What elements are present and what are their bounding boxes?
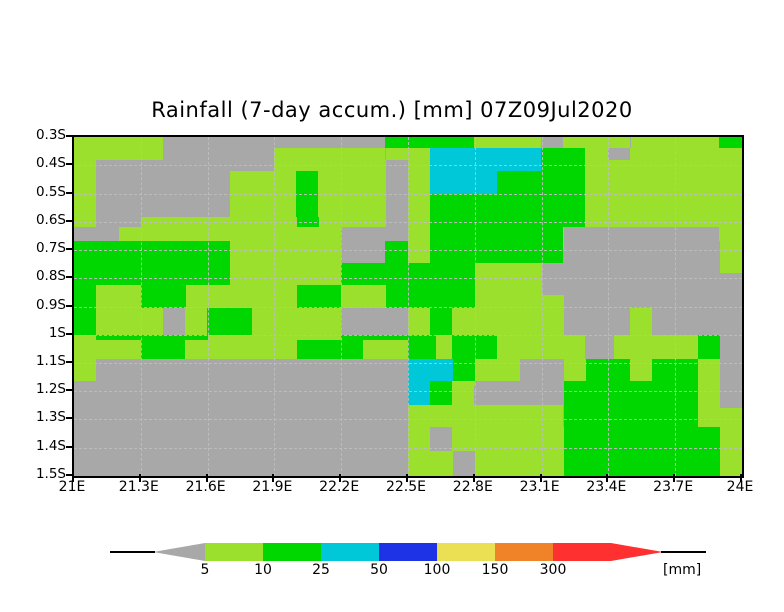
heatmap-cell xyxy=(408,405,563,427)
y-tick-label: 0.6S xyxy=(36,212,66,228)
heatmap-cell xyxy=(408,451,453,476)
heatmap-cell xyxy=(586,250,610,274)
colorbar-label: 25 xyxy=(291,562,351,578)
colorbar-segment xyxy=(321,543,379,561)
heatmap-cell xyxy=(452,308,497,335)
heatmap-cell xyxy=(675,295,699,319)
heatmap-cell xyxy=(74,335,96,359)
heatmap-cell xyxy=(119,205,143,229)
colorbar-label: 5 xyxy=(175,562,235,578)
colorbar-whisker-left xyxy=(110,551,155,553)
heatmap-cell xyxy=(74,137,96,148)
colorbar-unit-label: [mm] xyxy=(663,562,701,578)
y-tick-label: 0.8S xyxy=(36,268,66,284)
heatmap-cell xyxy=(564,227,588,251)
heatmap-cell xyxy=(341,285,386,308)
heatmap-cell xyxy=(96,263,230,285)
heatmap-cell xyxy=(563,335,585,359)
y-tick-label: 0.7S xyxy=(36,240,66,256)
heatmap-cell xyxy=(497,171,563,194)
heatmap-cell xyxy=(318,194,385,217)
heatmap-cell xyxy=(74,148,96,227)
heatmap-cell xyxy=(720,386,742,410)
colorbar-label: 300 xyxy=(523,562,583,578)
heatmap-cell xyxy=(74,263,96,308)
heatmap-cell xyxy=(564,250,588,274)
heatmap-cell xyxy=(564,381,698,405)
heatmap-cell xyxy=(318,171,385,194)
heatmap-cell xyxy=(430,194,563,263)
heatmap-cell xyxy=(408,381,430,405)
heatmap-cell xyxy=(563,148,585,227)
heatmap-cell xyxy=(698,405,720,427)
heatmap-cell xyxy=(719,137,742,148)
heatmap-cell xyxy=(74,427,408,476)
heatmap-cell xyxy=(230,263,319,285)
colorbar-label: 10 xyxy=(233,562,293,578)
y-tick-label: 0.4S xyxy=(36,155,66,171)
heatmap-cell xyxy=(74,359,96,381)
heatmap-cell xyxy=(252,308,274,335)
heatmap-cell xyxy=(319,250,343,274)
heatmap-cell xyxy=(586,273,610,297)
heatmap-cell xyxy=(630,148,742,171)
heatmap-cell xyxy=(341,227,365,251)
heatmap-cell xyxy=(163,160,187,184)
heatmap-cell xyxy=(698,359,720,381)
heatmap-cell xyxy=(653,273,677,297)
heatmap-cell xyxy=(653,227,677,251)
heatmap-cells xyxy=(74,137,742,476)
heatmap-cell xyxy=(720,451,742,476)
colorbar-label: 50 xyxy=(349,562,409,578)
heatmap-cell xyxy=(675,250,699,274)
heatmap-cell xyxy=(719,217,742,241)
heatmap-cell xyxy=(230,241,297,263)
heatmap-cell xyxy=(386,160,410,184)
y-tick xyxy=(66,361,74,363)
y-tick-label: 0.9S xyxy=(36,297,66,313)
heatmap-cell xyxy=(74,241,96,263)
heatmap-cell xyxy=(208,137,232,161)
heatmap-cell xyxy=(207,308,252,335)
heatmap-cell xyxy=(341,308,408,335)
heatmap-cell xyxy=(631,227,655,251)
heatmap-cell xyxy=(96,241,230,263)
colorbar-segment xyxy=(553,543,611,561)
heatmap-cell xyxy=(697,250,721,274)
y-tick-label: 1S xyxy=(49,325,66,341)
heatmap-cell xyxy=(163,308,185,335)
heatmap-cell xyxy=(608,227,632,251)
y-tick-label: 1.3S xyxy=(36,409,66,425)
heatmap-cell xyxy=(452,335,497,359)
heatmap-cell xyxy=(96,160,120,184)
colorbar-label: 100 xyxy=(407,562,467,578)
heatmap-cell xyxy=(386,205,410,229)
heatmap-cell xyxy=(96,359,408,381)
heatmap-cell xyxy=(163,137,187,161)
heatmap-cell xyxy=(586,318,610,342)
plot-area xyxy=(72,135,744,478)
heatmap-cell xyxy=(720,427,742,451)
x-tick-label: 24E xyxy=(700,479,780,495)
heatmap-cell xyxy=(96,137,163,148)
heatmap-cell xyxy=(631,273,655,297)
heatmap-cell xyxy=(119,182,143,206)
chart-page: Rainfall (7-day accum.) [mm] 07Z09Jul202… xyxy=(0,0,784,612)
heatmap-cell xyxy=(652,335,698,359)
heatmap-cell xyxy=(119,160,143,184)
heatmap-cell xyxy=(319,227,343,251)
heatmap-cell xyxy=(452,381,474,405)
heatmap-cell xyxy=(675,273,699,297)
heatmap-cell xyxy=(296,148,385,171)
heatmap-cell xyxy=(519,295,543,319)
heatmap-cell xyxy=(96,182,120,206)
colorbar-label: 150 xyxy=(465,562,525,578)
y-tick xyxy=(66,446,74,448)
heatmap-cell xyxy=(586,295,610,319)
heatmap-cell xyxy=(720,250,742,274)
heatmap-cell xyxy=(96,285,141,308)
heatmap-cell xyxy=(296,194,318,217)
heatmap-cell xyxy=(208,182,232,206)
y-tick xyxy=(66,276,74,278)
y-tick-label: 1.2S xyxy=(36,381,66,397)
heatmap-cell xyxy=(386,285,475,308)
heatmap-cell xyxy=(453,451,475,476)
heatmap-cell xyxy=(297,227,321,251)
heatmap-cell xyxy=(430,171,497,194)
heatmap-cell xyxy=(608,273,632,297)
heatmap-cell xyxy=(96,308,163,335)
heatmap-cell xyxy=(408,148,430,217)
heatmap-cell xyxy=(497,335,563,359)
heatmap-cell xyxy=(185,182,209,206)
heatmap-cell xyxy=(475,263,542,285)
heatmap-cell xyxy=(274,148,296,171)
heatmap-cell xyxy=(96,205,120,229)
heatmap-cell xyxy=(185,160,209,184)
heatmap-cell xyxy=(542,295,566,319)
heatmap-cell xyxy=(563,137,630,148)
heatmap-cell xyxy=(430,381,452,405)
heatmap-cell xyxy=(185,308,207,335)
heatmap-cell xyxy=(653,295,677,319)
y-tick-label: 0.3S xyxy=(36,127,66,143)
heatmap-cell xyxy=(630,313,652,335)
colorbar-segment xyxy=(495,543,553,561)
heatmap-cell xyxy=(652,137,719,148)
heatmap-cell xyxy=(630,335,652,359)
heatmap-cell xyxy=(74,381,408,427)
heatmap-cell xyxy=(519,363,543,387)
heatmap-cell xyxy=(230,137,254,161)
page-title: Rainfall (7-day accum.) [mm] 07Z09Jul202… xyxy=(0,98,784,122)
colorbar-segment xyxy=(379,543,437,561)
heatmap-cell xyxy=(274,308,296,335)
y-tick-label: 0.5S xyxy=(36,184,66,200)
heatmap-cell xyxy=(230,194,296,217)
heatmap-cell xyxy=(697,273,721,297)
heatmap-cell xyxy=(296,171,318,194)
y-tick xyxy=(66,192,74,194)
heatmap-cell xyxy=(720,340,742,364)
heatmap-cell xyxy=(564,451,720,476)
heatmap-cell xyxy=(563,217,585,227)
heatmap-cell xyxy=(631,250,655,274)
heatmap-cell xyxy=(74,308,96,335)
heatmap-cell xyxy=(630,359,652,381)
heatmap-cell xyxy=(698,381,720,405)
heatmap-cell xyxy=(564,427,720,451)
heatmap-cell xyxy=(586,227,610,251)
heatmap-cell xyxy=(297,285,341,308)
heatmap-cell xyxy=(564,359,586,381)
heatmap-cell xyxy=(652,359,698,381)
heatmap-cell xyxy=(186,285,297,308)
heatmap-cell xyxy=(496,137,541,148)
y-tick xyxy=(66,305,74,307)
heatmap-cell xyxy=(720,318,742,342)
heatmap-cell xyxy=(542,273,566,297)
heatmap-cell xyxy=(720,273,742,297)
heatmap-cell xyxy=(608,250,632,274)
heatmap-cell xyxy=(720,295,742,319)
heatmap-cell xyxy=(185,137,209,161)
heatmap-cell xyxy=(430,427,452,451)
heatmap-cell xyxy=(475,451,520,476)
heatmap-cell xyxy=(408,427,430,451)
heatmap-cell xyxy=(564,405,698,427)
heatmap-cell xyxy=(363,227,387,251)
y-tick xyxy=(66,220,74,222)
heatmap-cell xyxy=(698,335,720,359)
heatmap-cell xyxy=(163,182,187,206)
y-tick xyxy=(66,248,74,250)
colorbar-arrow-left xyxy=(153,543,205,561)
colorbar-segment xyxy=(437,543,495,561)
heatmap-cell xyxy=(141,182,165,206)
heatmap-cell xyxy=(653,250,677,274)
heatmap-cell xyxy=(230,217,297,241)
heatmap-cell xyxy=(453,359,475,381)
heatmap-cell xyxy=(452,263,474,285)
y-tick xyxy=(66,417,74,419)
y-tick xyxy=(66,389,74,391)
heatmap-cell xyxy=(141,160,165,184)
colorbar-arrow-right xyxy=(611,543,663,561)
heatmap-cell xyxy=(385,137,474,148)
heatmap-cell xyxy=(230,171,296,194)
y-tick-label: 1.1S xyxy=(36,353,66,369)
colorbar-whisker-right xyxy=(661,551,706,553)
y-tick xyxy=(66,163,74,165)
heatmap-cell xyxy=(386,182,410,206)
heatmap-cell xyxy=(408,217,430,263)
heatmap-cell xyxy=(497,308,519,335)
heatmap-cell xyxy=(208,160,232,184)
heatmap-cell xyxy=(564,273,588,297)
heatmap-cell xyxy=(141,285,186,308)
heatmap-cell xyxy=(542,363,566,387)
y-tick xyxy=(66,135,74,137)
heatmap-cell xyxy=(675,227,699,251)
heatmap-cell xyxy=(564,295,588,319)
colorbar-segment xyxy=(205,543,263,561)
y-tick xyxy=(66,333,74,335)
heatmap-cell xyxy=(408,359,453,381)
heatmap-cell xyxy=(408,308,430,335)
heatmap-cell xyxy=(697,295,721,319)
heatmap-cell xyxy=(475,285,520,308)
heatmap-cell xyxy=(475,359,520,381)
y-tick-label: 1.4S xyxy=(36,438,66,454)
heatmap-cell xyxy=(520,451,564,476)
heatmap-cell xyxy=(141,217,230,241)
heatmap-cell xyxy=(697,227,721,251)
heatmap-cell xyxy=(720,363,742,387)
heatmap-cell xyxy=(542,427,564,451)
heatmap-cell xyxy=(608,295,632,319)
heatmap-cell xyxy=(252,137,276,161)
colorbar-segment xyxy=(263,543,321,561)
